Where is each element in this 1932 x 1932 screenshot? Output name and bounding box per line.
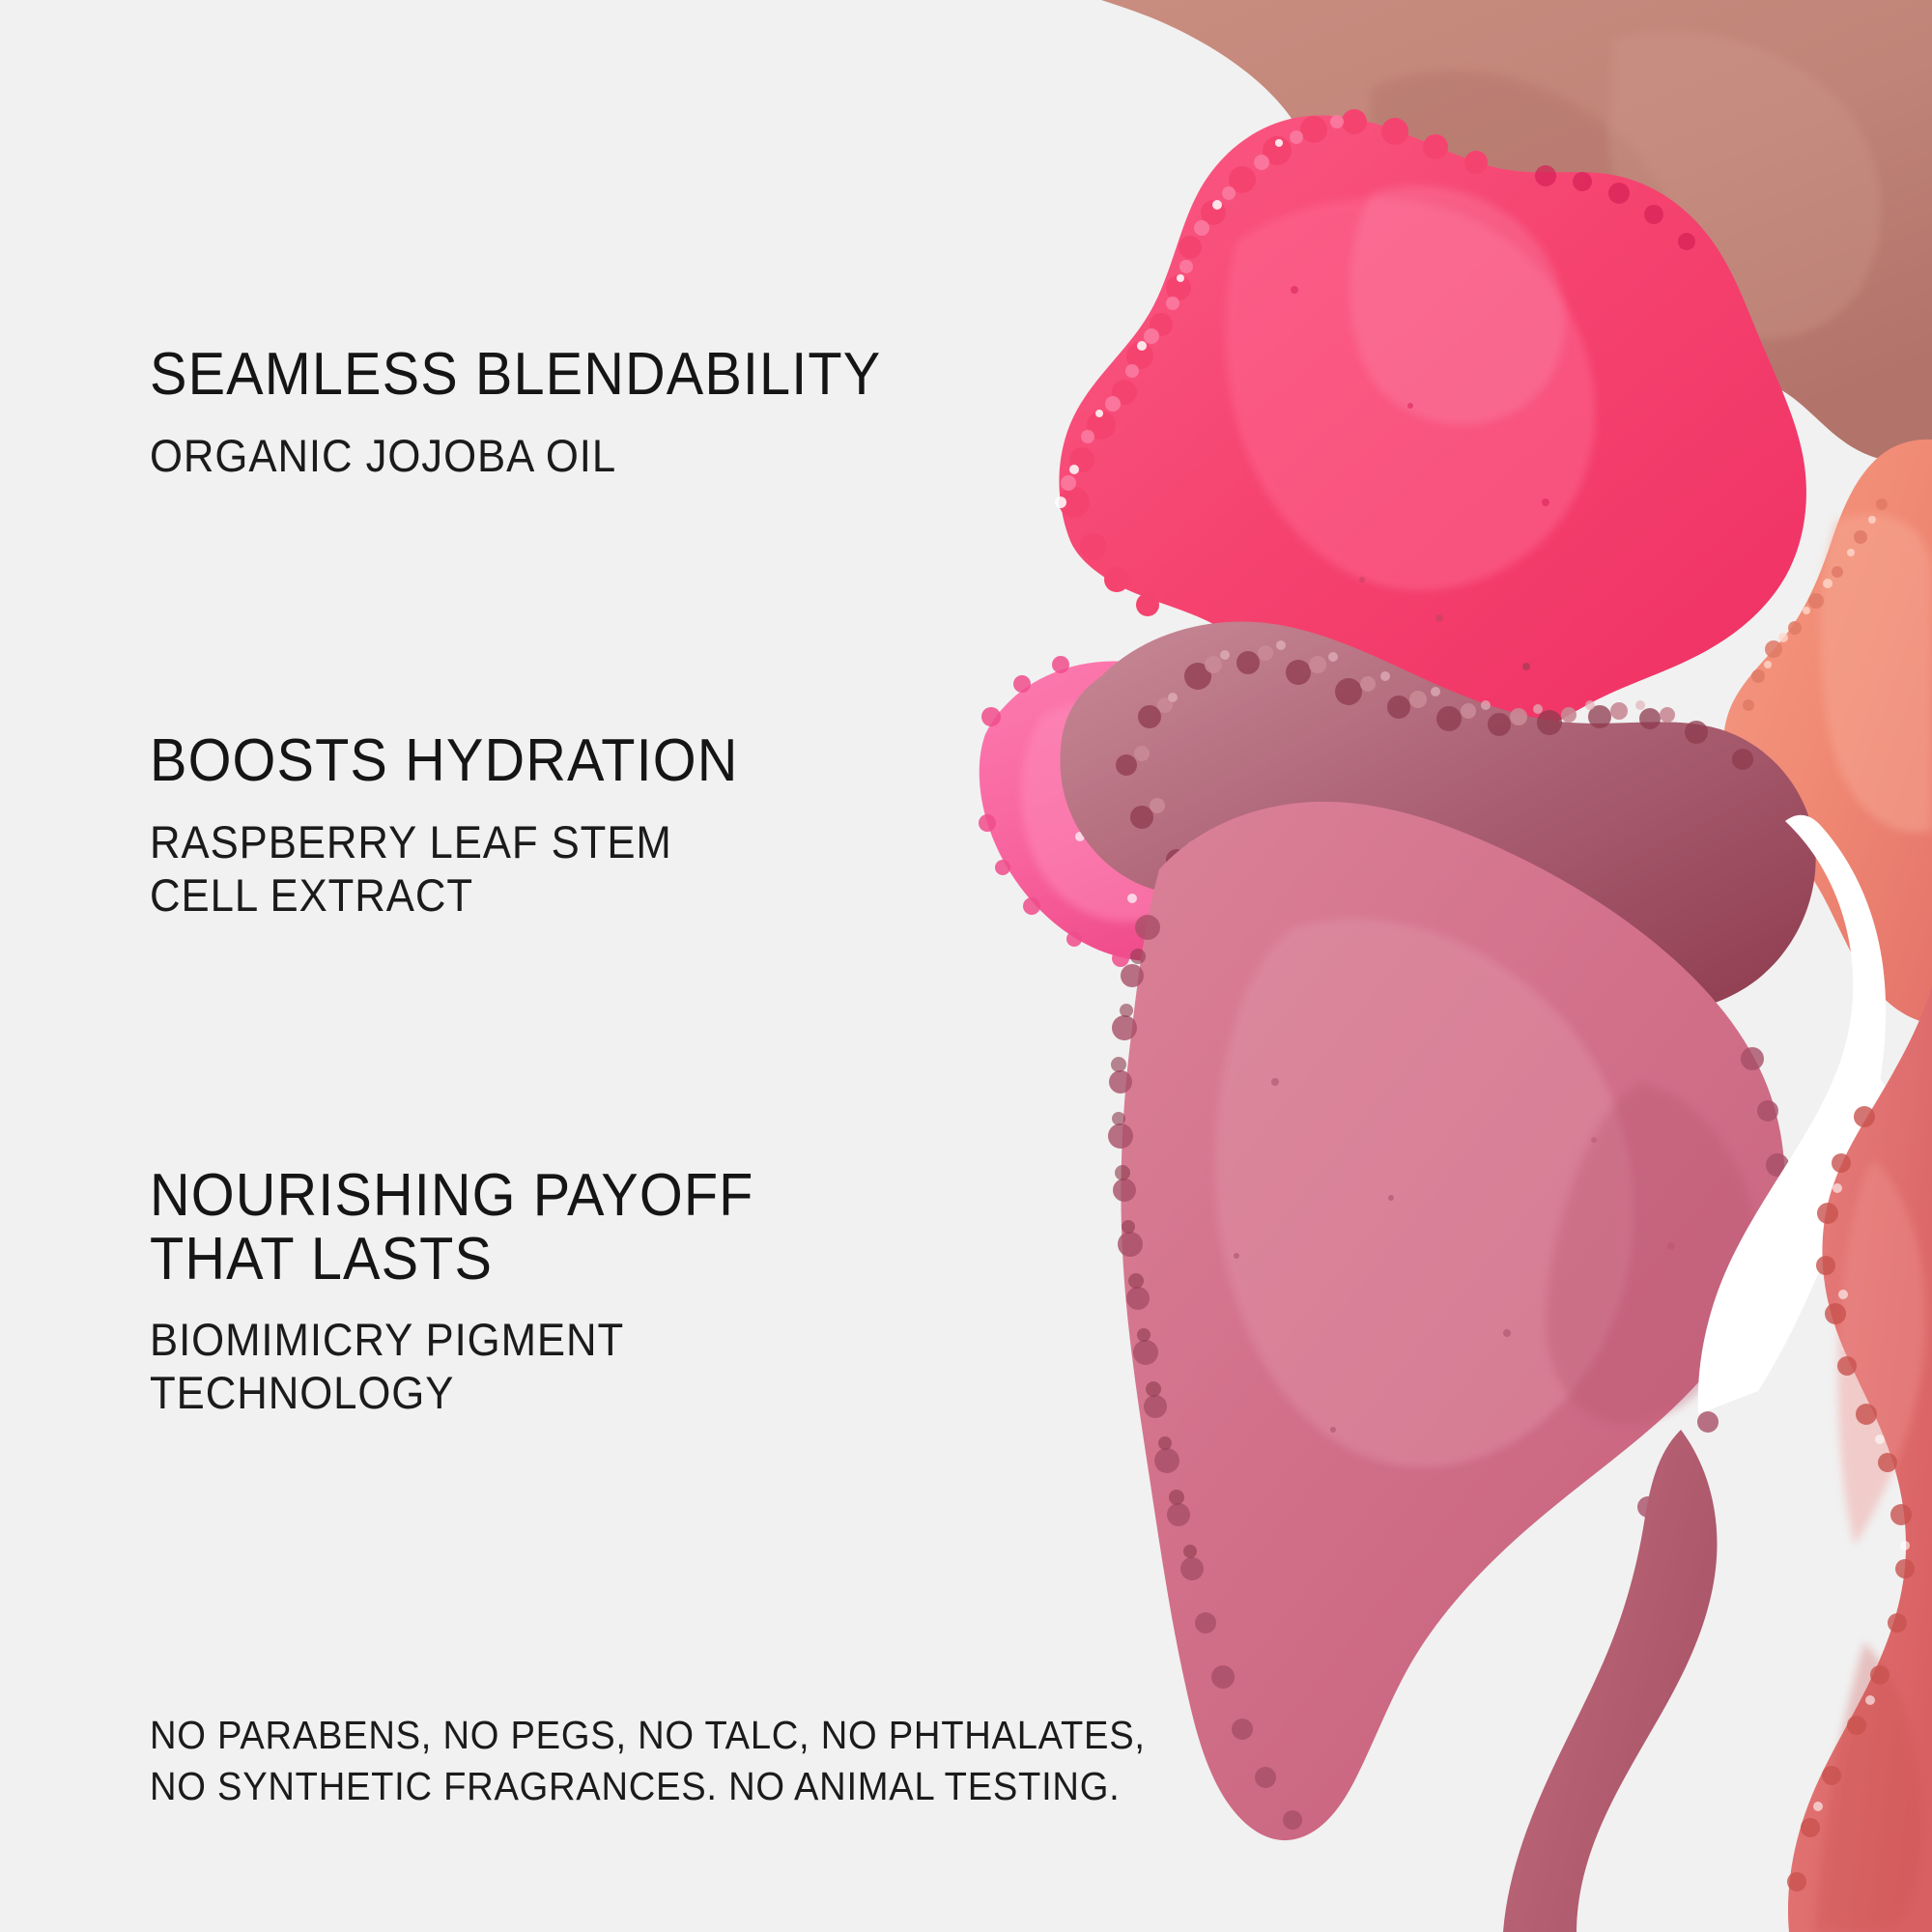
product-benefits-card: SEAMLESS BLENDABILITY ORGANIC JOJOBA OIL… bbox=[0, 0, 1932, 1932]
feature-title-2: BOOSTS HYDRATION bbox=[150, 729, 738, 793]
feature-subtitle-3: BIOMIMICRY PIGMENT TECHNOLOGY bbox=[150, 1314, 754, 1420]
feature-block-1: SEAMLESS BLENDABILITY ORGANIC JOJOBA OIL bbox=[150, 343, 936, 483]
feature-block-3: NOURISHING PAYOFF THAT LASTS BIOMIMICRY … bbox=[150, 1164, 800, 1420]
feature-block-2: BOOSTS HYDRATION RASPBERRY LEAF STEM CEL… bbox=[150, 729, 782, 923]
feature-subtitle-1: ORGANIC JOJOBA OIL bbox=[150, 430, 881, 483]
feature-title-3: NOURISHING PAYOFF THAT LASTS bbox=[150, 1164, 754, 1291]
feature-subtitle-2: RASPBERRY LEAF STEM CELL EXTRACT bbox=[150, 816, 738, 923]
benefits-text-column: SEAMLESS BLENDABILITY ORGANIC JOJOBA OIL… bbox=[150, 0, 1116, 1932]
feature-title-1: SEAMLESS BLENDABILITY bbox=[150, 343, 881, 407]
free-from-disclaimer: NO PARABENS, NO PEGS, NO TALC, NO PHTHAL… bbox=[150, 1710, 1318, 1813]
